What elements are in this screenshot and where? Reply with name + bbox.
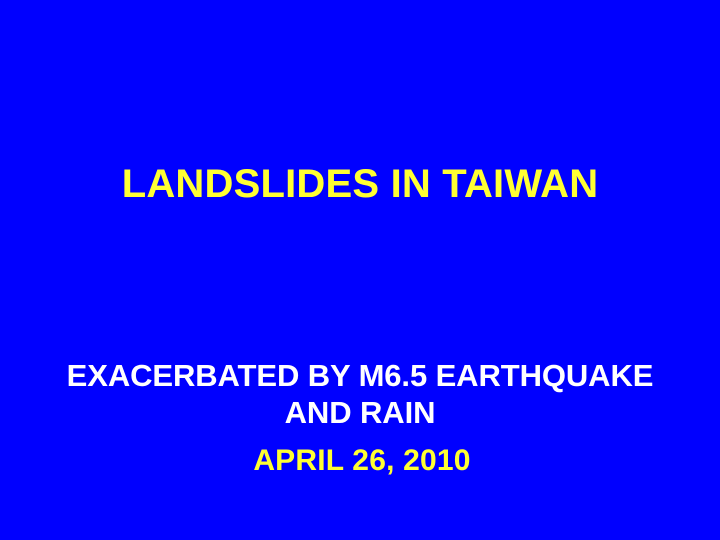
page-title: LANDSLIDES IN TAIWAN: [40, 160, 680, 208]
subtitle-line-2: AND RAIN: [36, 394, 684, 431]
subtitle-line-1: EXACERBATED BY M6.5 EARTHQUAKE: [36, 357, 684, 394]
title-placeholder: LANDSLIDES IN TAIWAN: [40, 160, 680, 208]
subtitle-placeholder: EXACERBATED BY M6.5 EARTHQUAKE AND RAIN: [36, 357, 684, 431]
presentation-slide: LANDSLIDES IN TAIWAN EXACERBATED BY M6.5…: [0, 0, 720, 540]
date-placeholder: APRIL 26, 2010: [36, 443, 688, 479]
slide-date: APRIL 26, 2010: [36, 443, 688, 479]
